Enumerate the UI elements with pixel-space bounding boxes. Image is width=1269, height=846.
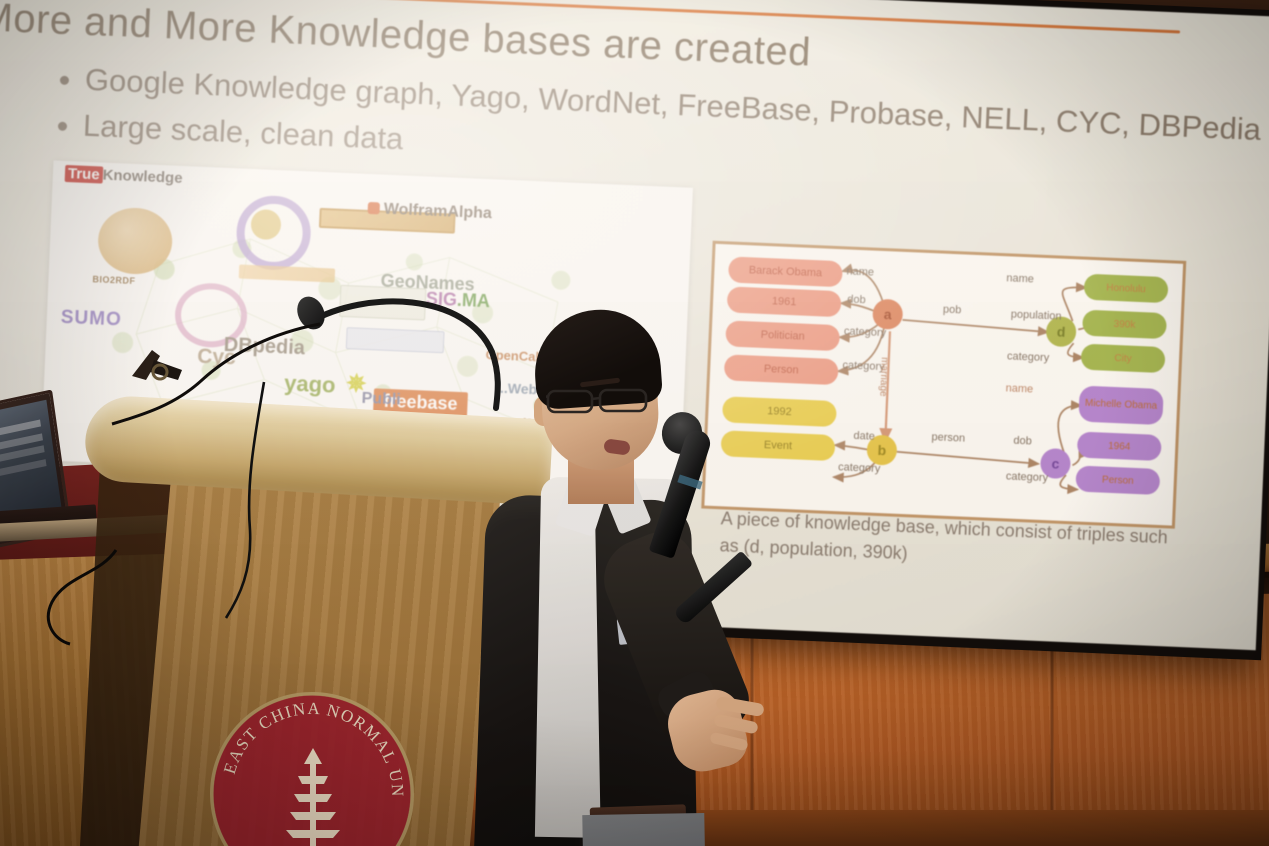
kb-value-honolulu: Honolulu xyxy=(1084,274,1169,304)
eyeglasses-icon xyxy=(546,386,658,416)
kb-edge-label-category-city: category xyxy=(1007,350,1050,364)
kb-value-person-c: Person xyxy=(1075,465,1160,495)
kb-edge-label-category-event: category xyxy=(838,461,881,475)
kb-value-1964: 1964 xyxy=(1077,431,1162,461)
presentation-photo: More and More Knowledge bases are create… xyxy=(0,0,1269,846)
emblem-tree-icon xyxy=(282,742,344,846)
presenter-person xyxy=(472,300,772,846)
desk-cable xyxy=(20,548,200,698)
kb-value-michelle-obama: Michelle Obama xyxy=(1078,386,1163,426)
logo-wolframalpha-label: WolframAlpha xyxy=(383,201,492,223)
kb-value-390k: 390k xyxy=(1082,310,1167,340)
lapel-mic-cable xyxy=(106,318,326,438)
kb-edge-label-person: person xyxy=(931,431,965,444)
kb-edge-label-name-a: name xyxy=(846,265,874,278)
kb-edge-label-name-c: name xyxy=(1005,382,1033,395)
kb-edge-label-name-d: name xyxy=(1006,272,1034,285)
kb-edge-label-population: population xyxy=(1011,309,1062,323)
logo-true-knowledge-rest: Knowledge xyxy=(102,167,183,187)
kb-edge-label-pob: pob xyxy=(943,304,962,317)
kb-value-barack-obama: Barack Obama xyxy=(728,256,843,287)
wolfram-spikey-icon xyxy=(368,202,381,215)
kb-edge-label-category-person-c: category xyxy=(1006,470,1049,484)
trousers xyxy=(582,813,707,846)
kb-value-city: City xyxy=(1081,344,1166,374)
kb-edge-label-category-politician: category xyxy=(844,325,887,339)
kb-edge-label-date: date xyxy=(853,430,875,443)
logo-bio2rdf-label: BIO2RDF xyxy=(92,274,135,286)
knowledge-base-diagram: a b c d Barack Obama 1961 Politician Per… xyxy=(701,241,1186,529)
kb-edge-label-dob-a: dob xyxy=(847,294,866,307)
kb-edge-label-marriage: marriage xyxy=(877,357,890,397)
kb-edge-label-dob-c: dob xyxy=(1013,435,1032,448)
logo-true-knowledge-mark: True xyxy=(65,165,103,184)
